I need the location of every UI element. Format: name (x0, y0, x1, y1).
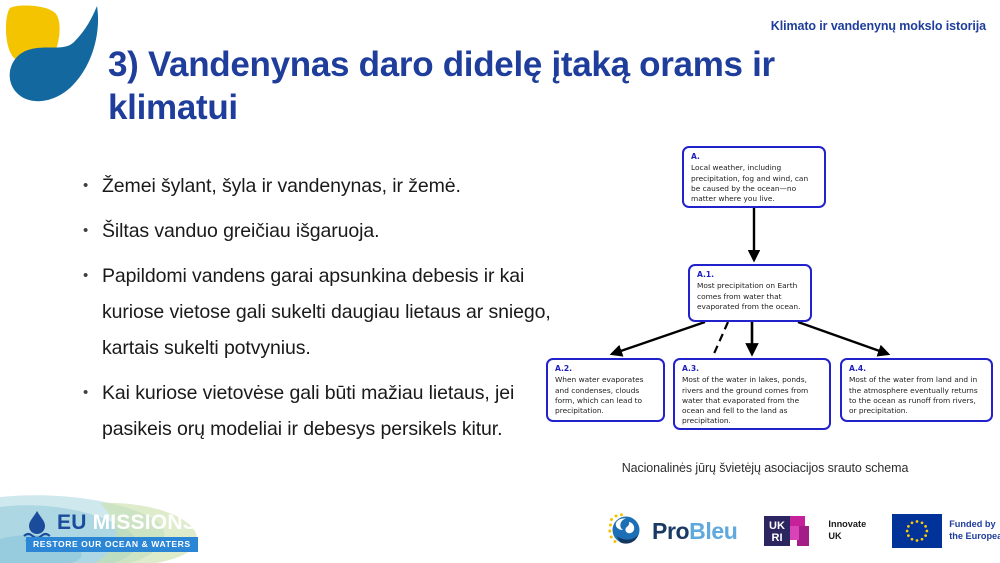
probleu-globe-icon (605, 511, 645, 551)
list-item: • Kai kuriose vietovėse gali būti mažiau… (78, 375, 558, 447)
eu-missions-logo: EU MISSIONS RESTORE OUR OCEAN & WATERS (0, 495, 240, 563)
innovate-uk-line2: UK (828, 531, 841, 541)
list-item: • Papildomi vandens garai apsunkina debe… (78, 258, 558, 366)
diagram-node-a2-text: When water evaporates and condenses, clo… (555, 375, 657, 416)
diagram-node-a4: A.4. Most of the water from land and in … (840, 358, 993, 422)
diagram-node-a3: A.3. Most of the water in lakes, ponds, … (673, 358, 831, 430)
innovate-uk-line1: Innovate (828, 519, 866, 529)
edge-a1-to-a4 (798, 322, 888, 354)
diagram-node-a-label: A. (691, 152, 818, 162)
diagram-node-a2: A.2. When water evaporates and condenses… (546, 358, 665, 422)
bullet-list: • Žemei šylant, šyla ir vandenynas, ir ž… (78, 168, 558, 456)
bullet-text: Šiltas vanduo greičiau išgaruoja. (102, 213, 558, 249)
eu-missions-word-eu: EU (57, 511, 93, 534)
list-item: • Žemei šylant, šyla ir vandenynas, ir ž… (78, 168, 558, 204)
eu-missions-wordmark: EU MISSIONS (57, 511, 197, 535)
diagram-node-a1-label: A.1. (697, 270, 804, 280)
diagram-node-a4-label: A.4. (849, 364, 985, 374)
eu-flag-icon (892, 514, 942, 548)
bullet-dot-icon: • (78, 258, 102, 294)
innovate-uk-label: Innovate UK (828, 519, 866, 543)
edge-a1-to-a3-dashed (713, 322, 728, 356)
slide-eyebrow-title: Klimato ir vandenynų mokslo istorija (771, 19, 986, 33)
diagram-node-a1: A.1. Most precipitation on Earth comes f… (688, 264, 812, 322)
slide-canvas: Klimato ir vandenynų mokslo istorija 3) … (0, 0, 1000, 563)
eu-missions-word-missions: MISSIONS (93, 511, 197, 534)
eu-mission-swirl-logo (2, 2, 106, 110)
probleu-word-pro: Pro (652, 518, 689, 544)
diagram-caption: Nacionalinės jūrų švietėjų asociacijos s… (530, 461, 1000, 475)
page-title: 3) Vandenynas daro didelę įtaką orams ir… (108, 44, 898, 129)
bullet-text: Papildomi vandens garai apsunkina debesi… (102, 258, 558, 366)
svg-text:UK: UK (769, 520, 785, 532)
funded-by-eu-line2: the European Union (949, 531, 1000, 541)
bullet-dot-icon: • (78, 213, 102, 249)
bullet-text: Kai kuriose vietovėse gali būti mažiau l… (102, 375, 558, 447)
diagram-node-a: A. Local weather, including precipitatio… (682, 146, 826, 208)
eu-missions-tagline: RESTORE OUR OCEAN & WATERS (26, 537, 198, 552)
diagram-node-a4-text: Most of the water from land and in the a… (849, 375, 985, 416)
funded-by-eu-line1: Funded by (949, 519, 995, 529)
bullet-dot-icon: • (78, 375, 102, 411)
diagram-node-a2-label: A.2. (555, 364, 657, 374)
svg-text:RI: RI (772, 532, 783, 544)
innovate-uk-logo: UK RI Innovate UK (763, 513, 866, 549)
edge-a1-to-a2 (612, 322, 705, 354)
diagram-node-a1-text: Most precipitation on Earth comes from w… (697, 281, 804, 312)
flow-diagram: A. Local weather, including precipitatio… (530, 142, 1000, 452)
partner-logo-strip: ProBleu UK RI Innovate UK (605, 507, 1000, 555)
diagram-node-a3-label: A.3. (682, 364, 823, 374)
bullet-dot-icon: • (78, 168, 102, 204)
bullet-text: Žemei šylant, šyla ir vandenynas, ir žem… (102, 168, 558, 204)
ukri-mark-icon: UK RI (763, 513, 821, 549)
probleu-wordmark: ProBleu (652, 518, 737, 545)
diagram-node-a3-text: Most of the water in lakes, ponds, river… (682, 375, 823, 426)
probleu-logo: ProBleu (605, 511, 737, 551)
funded-by-eu-logo: Funded by the European Union (892, 514, 1000, 548)
slide-footer: EU MISSIONS RESTORE OUR OCEAN & WATERS (0, 495, 1000, 563)
funded-by-eu-label: Funded by the European Union (949, 519, 1000, 543)
list-item: • Šiltas vanduo greičiau išgaruoja. (78, 213, 558, 249)
probleu-word-bleu: Bleu (689, 518, 737, 544)
diagram-node-a-text: Local weather, including precipitation, … (691, 163, 818, 204)
